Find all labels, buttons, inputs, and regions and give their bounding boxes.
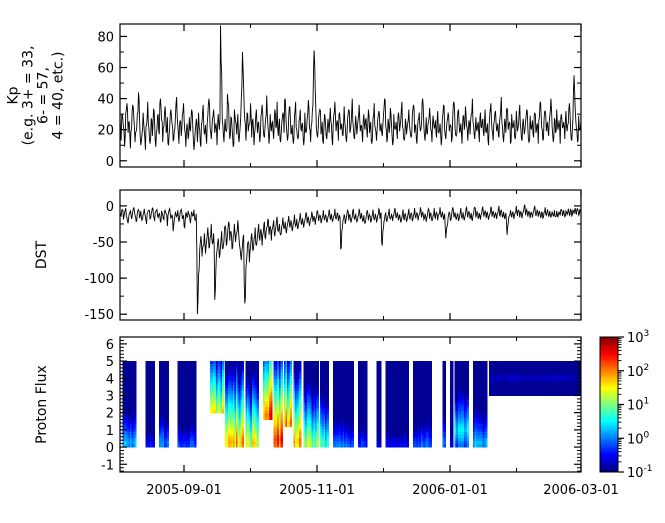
ytick-label-proton: 2 — [106, 407, 114, 422]
ytick-label-proton: 5 — [106, 355, 114, 370]
proton-flux-axis-label: Proton Flux — [34, 365, 50, 444]
colorbar-tick-label: 103 — [627, 329, 649, 346]
ytick-label-proton: 3 — [106, 389, 114, 404]
ytick-label-proton: 6 — [106, 338, 114, 353]
colorbar-tick-label: 10-1 — [627, 464, 653, 481]
xtick-label: 2006-01-01 — [412, 483, 488, 498]
ytick-label-proton: 1 — [106, 424, 114, 439]
ytick-label-proton: 4 — [106, 372, 114, 387]
xtick-label: 2005-09-01 — [146, 483, 222, 498]
ytick-label-dst: -50 — [93, 236, 114, 251]
panel-frame-dst — [120, 190, 581, 320]
panel-frame-kp — [120, 24, 581, 167]
kp-axis-label-line-2: 6- = 57, — [36, 67, 52, 124]
kp-axis-label-line-1: (e.g. 3+ = 33, — [21, 46, 37, 146]
colorbar-tick-label: 101 — [627, 397, 649, 414]
ytick-label-kp: 80 — [97, 30, 114, 45]
xtick-label: 2005-11-01 — [279, 483, 355, 498]
ytick-label-dst: 0 — [106, 200, 114, 215]
ytick-label-kp: 20 — [97, 124, 114, 139]
dst-trace — [120, 205, 581, 314]
ytick-label-dst: -100 — [84, 272, 114, 287]
kp-trace — [120, 26, 581, 150]
proton-flux-heatmap — [122, 361, 581, 448]
ytick-label-kp: 40 — [97, 93, 114, 108]
colorbar — [600, 337, 618, 472]
colorbar-tick-label: 102 — [627, 363, 649, 380]
kp-axis-label-line-3: 4 = 40, etc.) — [51, 52, 67, 140]
ytick-label-kp: 0 — [106, 155, 114, 170]
multi-panel-plot: 020406080Kp(e.g. 3+ = 33,6- = 57,4 = 40,… — [0, 0, 665, 523]
colorbar-tick-label: 100 — [627, 430, 650, 447]
ytick-label-dst: -150 — [84, 308, 114, 323]
figure-canvas: 020406080Kp(e.g. 3+ = 33,6- = 57,4 = 40,… — [0, 0, 665, 523]
ytick-label-proton: -1 — [101, 458, 114, 473]
kp-axis-label-line-0: Kp — [6, 86, 22, 104]
dst-axis-label: DST — [34, 240, 50, 269]
ytick-label-proton: 0 — [106, 441, 114, 456]
xtick-label: 2006-03-01 — [543, 483, 619, 498]
ytick-label-kp: 60 — [97, 62, 114, 77]
